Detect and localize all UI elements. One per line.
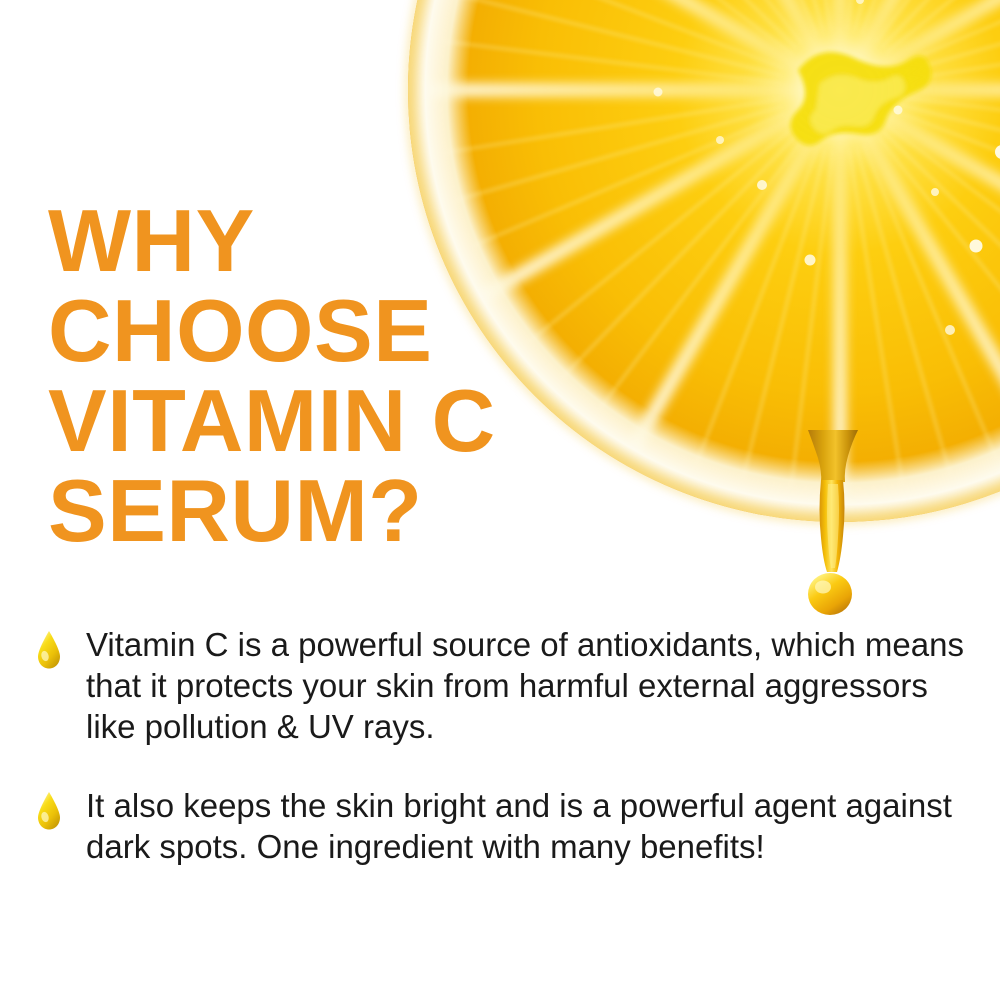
page-title: WHY CHOOSE VITAMIN C SERUM?	[48, 196, 608, 556]
serum-droplet-icon	[34, 791, 64, 831]
lemon-core	[745, 5, 935, 175]
benefit-text: Vitamin C is a powerful source of antiox…	[86, 624, 984, 747]
lemon-center-pulp	[790, 52, 931, 145]
drip-highlight	[827, 484, 839, 568]
benefit-text: It also keeps the skin bright and is a p…	[86, 785, 984, 867]
serum-droplet-icon	[34, 630, 64, 670]
headline-line-3: VITAMIN C	[48, 376, 608, 466]
drip-neck	[808, 430, 858, 482]
lemon-juice-sparkles	[654, 0, 1000, 344]
headline-line-2: CHOOSE	[48, 286, 608, 376]
list-item: Vitamin C is a powerful source of antiox…	[34, 624, 984, 747]
drip-bead	[808, 573, 852, 615]
headline-line-4: SERUM?	[48, 466, 608, 556]
drip-stream	[820, 480, 845, 572]
drip-bead-highlight	[815, 581, 831, 594]
benefits-list: Vitamin C is a powerful source of antiox…	[34, 624, 984, 867]
list-item: It also keeps the skin bright and is a p…	[34, 785, 984, 867]
marketing-graphic-canvas: WHY CHOOSE VITAMIN C SERUM?	[0, 0, 1000, 1000]
headline-line-1: WHY	[48, 196, 608, 286]
serum-drip-icon	[780, 430, 890, 650]
